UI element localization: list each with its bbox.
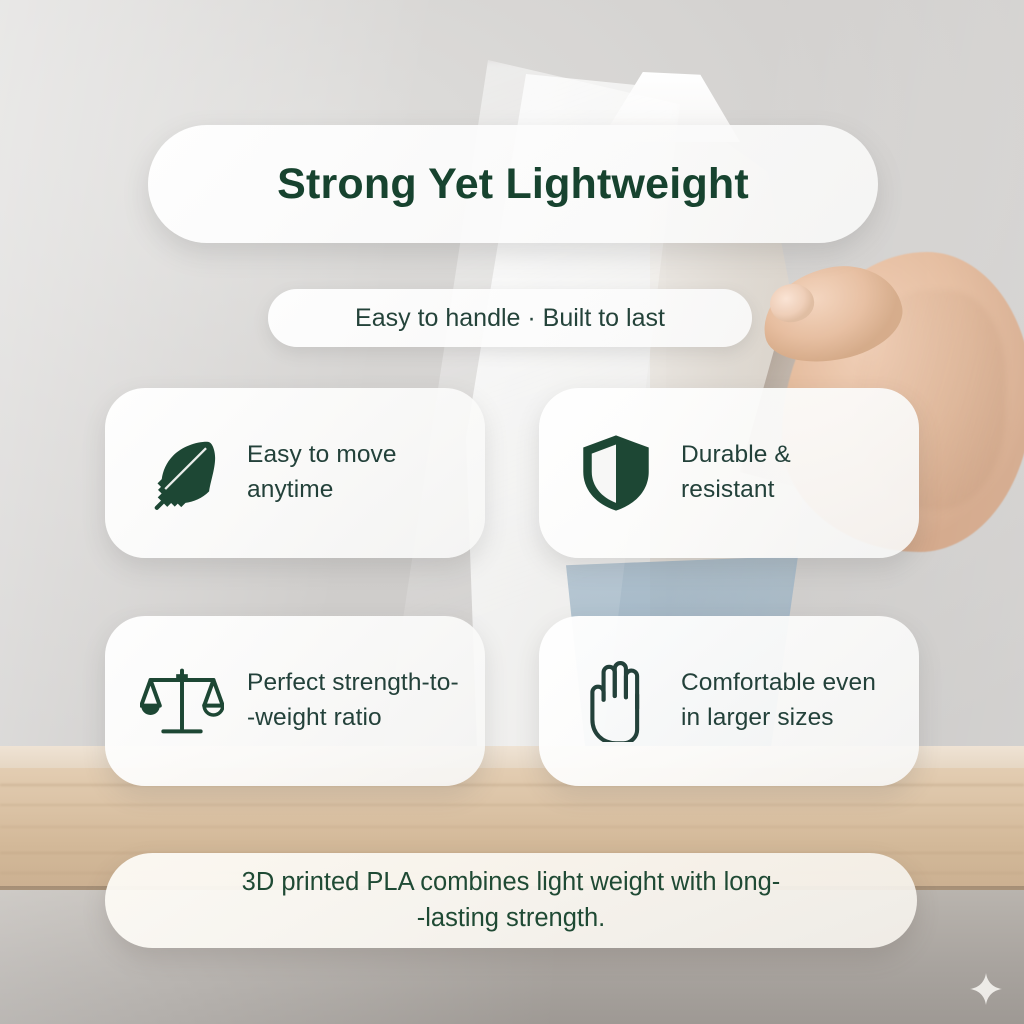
footer-line1: 3D printed PLA combines light weight wit… [242,868,781,896]
feather-icon [139,433,225,513]
feature-label-line1: Comfortable even [681,669,876,696]
feature-card-strength-to-weight[interactable]: Perfect strength-to- -weight ratio [105,616,485,786]
feature-label-line1: Perfect strength-to- [247,669,459,696]
feature-label: Comfortable even in larger sizes [681,666,876,736]
feature-label-line1: Durable & [681,441,791,468]
page-title: Strong Yet Lightweight [277,160,749,209]
hand-icon [573,660,659,742]
feature-label-line2: -weight ratio [247,704,382,731]
feature-label-line2: anytime [247,476,334,503]
footer-text: 3D printed PLA combines light weight wit… [242,865,781,936]
balance-scale-icon [139,661,225,741]
footer-line2: -lasting strength. [417,904,606,932]
subtitle-pill: Easy to handle · Built to last [268,289,752,347]
feature-label: Durable & resistant [681,438,791,508]
title-pill: Strong Yet Lightweight [148,125,878,243]
feature-label: Easy to move anytime [247,438,397,508]
sparkle-icon [968,972,1004,1008]
feature-label-line2: in larger sizes [681,704,834,731]
page-subtitle: Easy to handle · Built to last [355,304,665,333]
feature-label-line2: resistant [681,476,775,503]
shield-icon [573,433,659,513]
feature-card-easy-to-move[interactable]: Easy to move anytime [105,388,485,558]
feature-label-line1: Easy to move [247,441,397,468]
feature-label: Perfect strength-to- -weight ratio [247,666,459,736]
feature-card-comfortable-larger-sizes[interactable]: Comfortable even in larger sizes [539,616,919,786]
footer-pill: 3D printed PLA combines light weight wit… [105,853,917,948]
feature-card-durable-resistant[interactable]: Durable & resistant [539,388,919,558]
infographic-overlay: Strong Yet Lightweight Easy to handle · … [0,0,1024,1024]
